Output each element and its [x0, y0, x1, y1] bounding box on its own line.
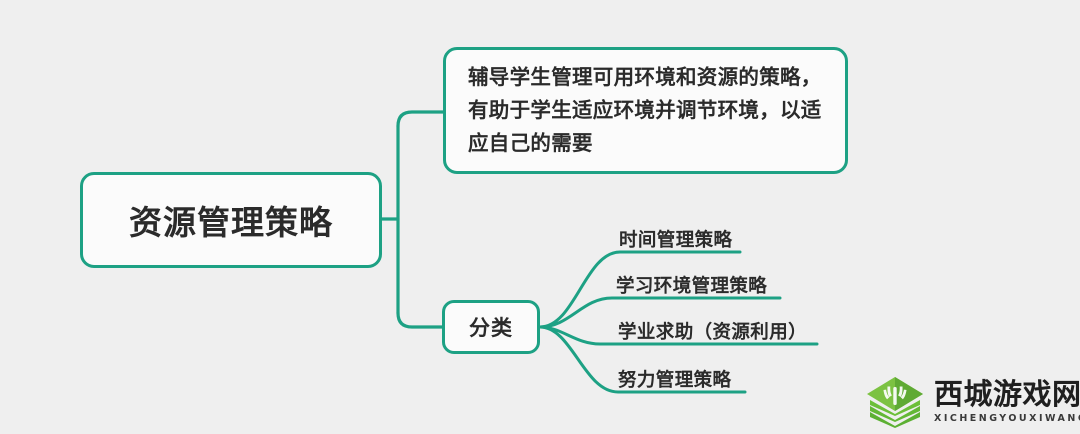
leaf-label: 时间管理策略	[619, 230, 732, 251]
layered-diamond-logo-icon	[866, 376, 924, 428]
leaf-node-academic-help-seeking[interactable]: 学业求助（资源利用）	[618, 318, 807, 344]
watermark-title: 西城游戏网	[934, 380, 1080, 410]
leaf-label: 学习环境管理策略	[616, 276, 767, 297]
watermark-pinyin: XICHENGYOUXIWANG	[934, 413, 1080, 424]
node-description-label: 辅导学生管理可用环境和资源的策略，有助于学生适应环境并调节环境，以适应自己的需要	[468, 61, 825, 161]
mindmap-canvas: 资源管理策略 辅导学生管理可用环境和资源的策略，有助于学生适应环境并调节环境，以…	[0, 0, 1080, 434]
node-classification[interactable]: 分类	[442, 300, 540, 354]
node-description[interactable]: 辅导学生管理可用环境和资源的策略，有助于学生适应环境并调节环境，以适应自己的需要	[443, 47, 848, 174]
watermark-text: 西城游戏网 XICHENGYOUXIWANG	[934, 380, 1080, 424]
leaf-node-study-environment[interactable]: 学习环境管理策略	[616, 272, 767, 298]
leaf-label: 学业求助（资源利用）	[618, 322, 807, 343]
connector-to-description	[398, 112, 443, 126]
watermark: 西城游戏网 XICHENGYOUXIWANG	[866, 374, 1072, 430]
leaf-label: 努力管理策略	[618, 370, 731, 391]
node-root[interactable]: 资源管理策略	[80, 172, 382, 268]
leaf-node-time-management[interactable]: 时间管理策略	[619, 226, 732, 252]
leaf-node-effort-management[interactable]: 努力管理策略	[618, 366, 731, 392]
connector-to-classification	[398, 313, 442, 327]
node-root-label: 资源管理策略	[129, 196, 333, 244]
node-classification-label: 分类	[469, 312, 513, 342]
